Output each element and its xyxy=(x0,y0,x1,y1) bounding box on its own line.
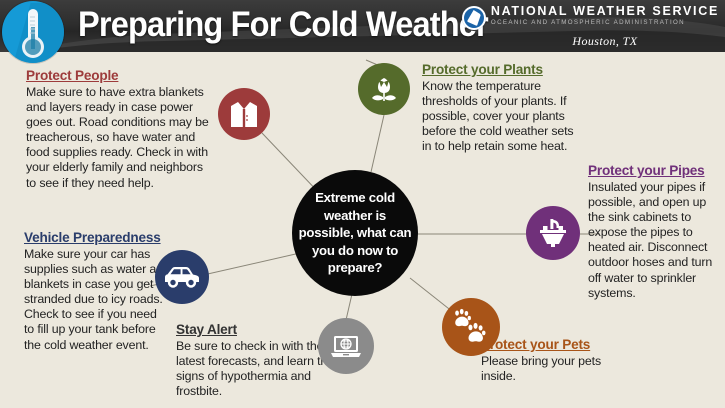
section-heading-vehicle: Vehicle Preparedness xyxy=(24,230,170,246)
section-vehicle-preparedness: Vehicle Preparedness Make sure your car … xyxy=(24,230,170,353)
section-protect-plants: Protect your Plants Know the temperature… xyxy=(422,62,574,154)
noaa-logo-icon xyxy=(462,6,486,30)
nws-text-group: NATIONAL WEATHER SERVICE OCEANIC AND ATM… xyxy=(491,4,719,50)
connector-plants xyxy=(371,115,384,172)
paw-prints-icon xyxy=(442,298,500,356)
thermometer-icon xyxy=(2,1,64,63)
agency-name: NATIONAL WEATHER SERVICE xyxy=(491,4,719,18)
page-title: Preparing For Cold Weather xyxy=(78,0,488,51)
office-city: Houston, TX xyxy=(491,32,719,50)
section-body-pets: Please bring your pets inside. xyxy=(481,354,631,384)
nws-logo-block: NATIONAL WEATHER SERVICE OCEANIC AND ATM… xyxy=(462,4,719,50)
sink-faucet-icon xyxy=(526,206,580,260)
section-heading-pipes: Protect your Pipes xyxy=(588,163,722,179)
section-heading-people: Protect People xyxy=(26,68,212,84)
flower-tulip-icon xyxy=(358,63,410,115)
section-body-vehicle: Make sure your car has supplies such as … xyxy=(24,247,170,353)
section-body-plants: Know the temperature thresholds of your … xyxy=(422,79,574,154)
section-body-pipes: Insulated your pipes if possible, and op… xyxy=(588,180,722,301)
section-protect-pets: Protect your Pets Please bring your pets… xyxy=(481,337,631,384)
section-protect-people: Protect People Make sure to have extra b… xyxy=(26,68,212,191)
car-icon xyxy=(155,250,209,304)
agency-subtitle: OCEANIC AND ATMOSPHERIC ADMINISTRATION xyxy=(491,18,719,27)
infographic-canvas: Preparing For Cold Weather NATIONAL WEAT… xyxy=(0,0,725,408)
section-body-people: Make sure to have extra blankets and lay… xyxy=(26,85,212,191)
page-header: Preparing For Cold Weather NATIONAL WEAT… xyxy=(0,0,725,52)
connector-alert xyxy=(346,294,352,320)
center-hub: Extreme cold weather is possible, what c… xyxy=(292,170,418,296)
hub-question: Extreme cold weather is possible, what c… xyxy=(295,189,415,277)
section-heading-plants: Protect your Plants xyxy=(422,62,574,78)
laptop-globe-icon xyxy=(318,318,374,374)
section-heading-pets: Protect your Pets xyxy=(481,337,631,353)
coat-jacket-icon xyxy=(218,88,270,140)
section-protect-pipes: Protect your Pipes Insulated your pipes … xyxy=(588,163,722,301)
